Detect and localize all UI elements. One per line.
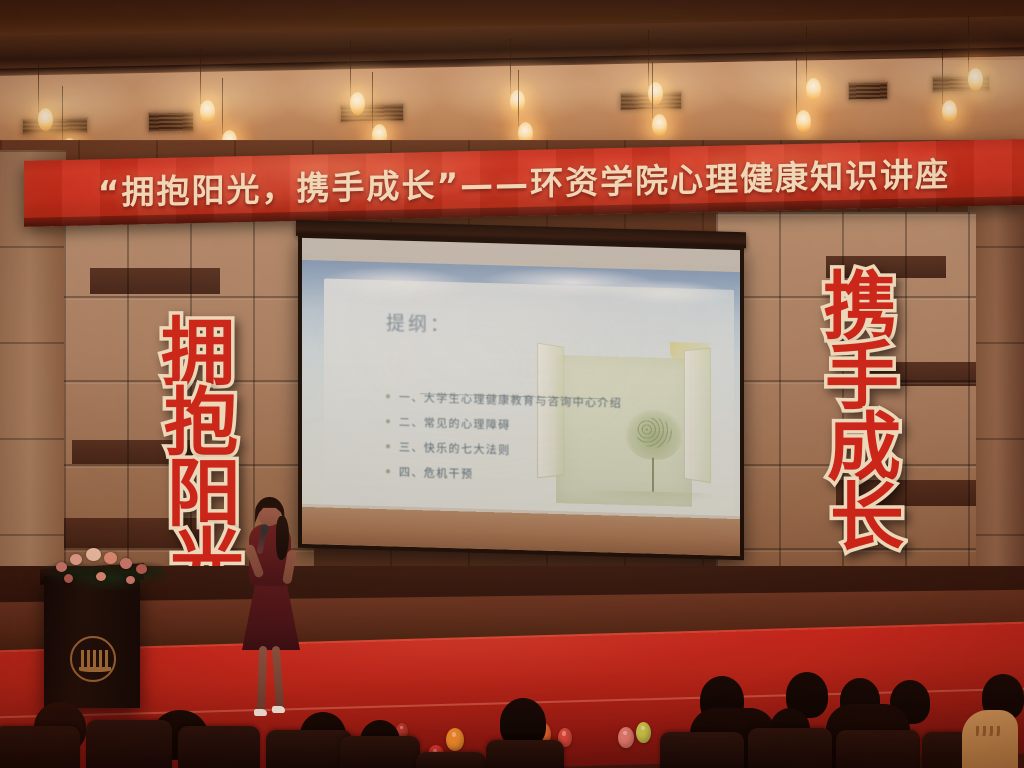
screen-frame: 提纲： 一 — [298, 234, 744, 560]
audience-member-tan-top — [962, 710, 1018, 768]
slide-outline-item: 三、快乐的七大法则 — [386, 438, 622, 461]
seat-back — [340, 736, 420, 768]
wall-char: 长 — [830, 483, 904, 553]
seat-back — [748, 728, 832, 768]
ceiling — [0, 0, 1024, 152]
seat-back — [0, 726, 80, 768]
flower-blossom — [104, 552, 117, 564]
slide-outline-item-text: 二、常见的心理障碍 — [399, 414, 511, 433]
slide-outline-list: 一、大学生心理健康教育与咨询中心介绍 二、常见的心理障碍 三、快乐的七大法则 四… — [386, 388, 622, 495]
flower-blossom — [126, 576, 135, 584]
slide-content-panel: 提纲： 一 — [324, 278, 734, 515]
seat-back — [86, 720, 172, 768]
bullet-dot-icon — [386, 394, 390, 398]
seat-back — [416, 752, 486, 768]
slide-outline-item: 二、常见的心理障碍 — [386, 413, 622, 436]
seat-back — [486, 740, 564, 768]
speaker-skirt — [242, 580, 300, 650]
flower-blossom — [120, 558, 132, 569]
wall-char: 拥 — [152, 318, 244, 388]
window-leaf-right — [684, 347, 711, 483]
flower-blossom — [64, 574, 73, 583]
bullet-dot-icon — [386, 444, 390, 448]
wall-char: 携 — [816, 272, 904, 342]
flower-blossom — [70, 554, 82, 565]
heart-tree-canopy-icon — [626, 409, 682, 461]
audience-row — [0, 660, 1024, 768]
wall-char: 阳 — [164, 459, 244, 529]
bullet-dot-icon — [386, 419, 390, 423]
screen-surface: 提纲： 一 — [302, 238, 740, 556]
wall-recess-band — [90, 268, 220, 294]
flower-blossom — [136, 564, 147, 574]
slide-title: 提纲： — [386, 308, 452, 337]
flower-blossom — [56, 562, 67, 572]
slide-outline-item: 四、危机干预 — [386, 463, 622, 486]
projection-screen: 提纲： 一 — [296, 220, 746, 563]
flower-blossom — [86, 548, 101, 561]
wall-char: 抱 — [158, 388, 244, 458]
seat-back — [178, 726, 260, 768]
wall-char: 成 — [824, 413, 904, 483]
slide-outline-item-text: 三、快乐的七大法则 — [399, 439, 511, 458]
tree-trunk — [652, 458, 654, 492]
projected-slide: 提纲： 一 — [302, 260, 740, 522]
auditorium-photo: “拥抱阳光，携手成长”——环资学院心理健康知识讲座 提纲： — [0, 0, 1024, 768]
flower-arrangement — [46, 544, 166, 590]
bullet-dot-icon — [386, 469, 390, 473]
flower-blossom — [96, 572, 106, 581]
wall-char: 手 — [820, 342, 904, 412]
wall-text-right-xieshouchengzhang: 携 手 成 长 — [816, 272, 904, 553]
slide-outline-item-text: 四、危机干预 — [399, 464, 473, 482]
seat-back — [660, 732, 744, 768]
seat-back — [836, 730, 920, 768]
